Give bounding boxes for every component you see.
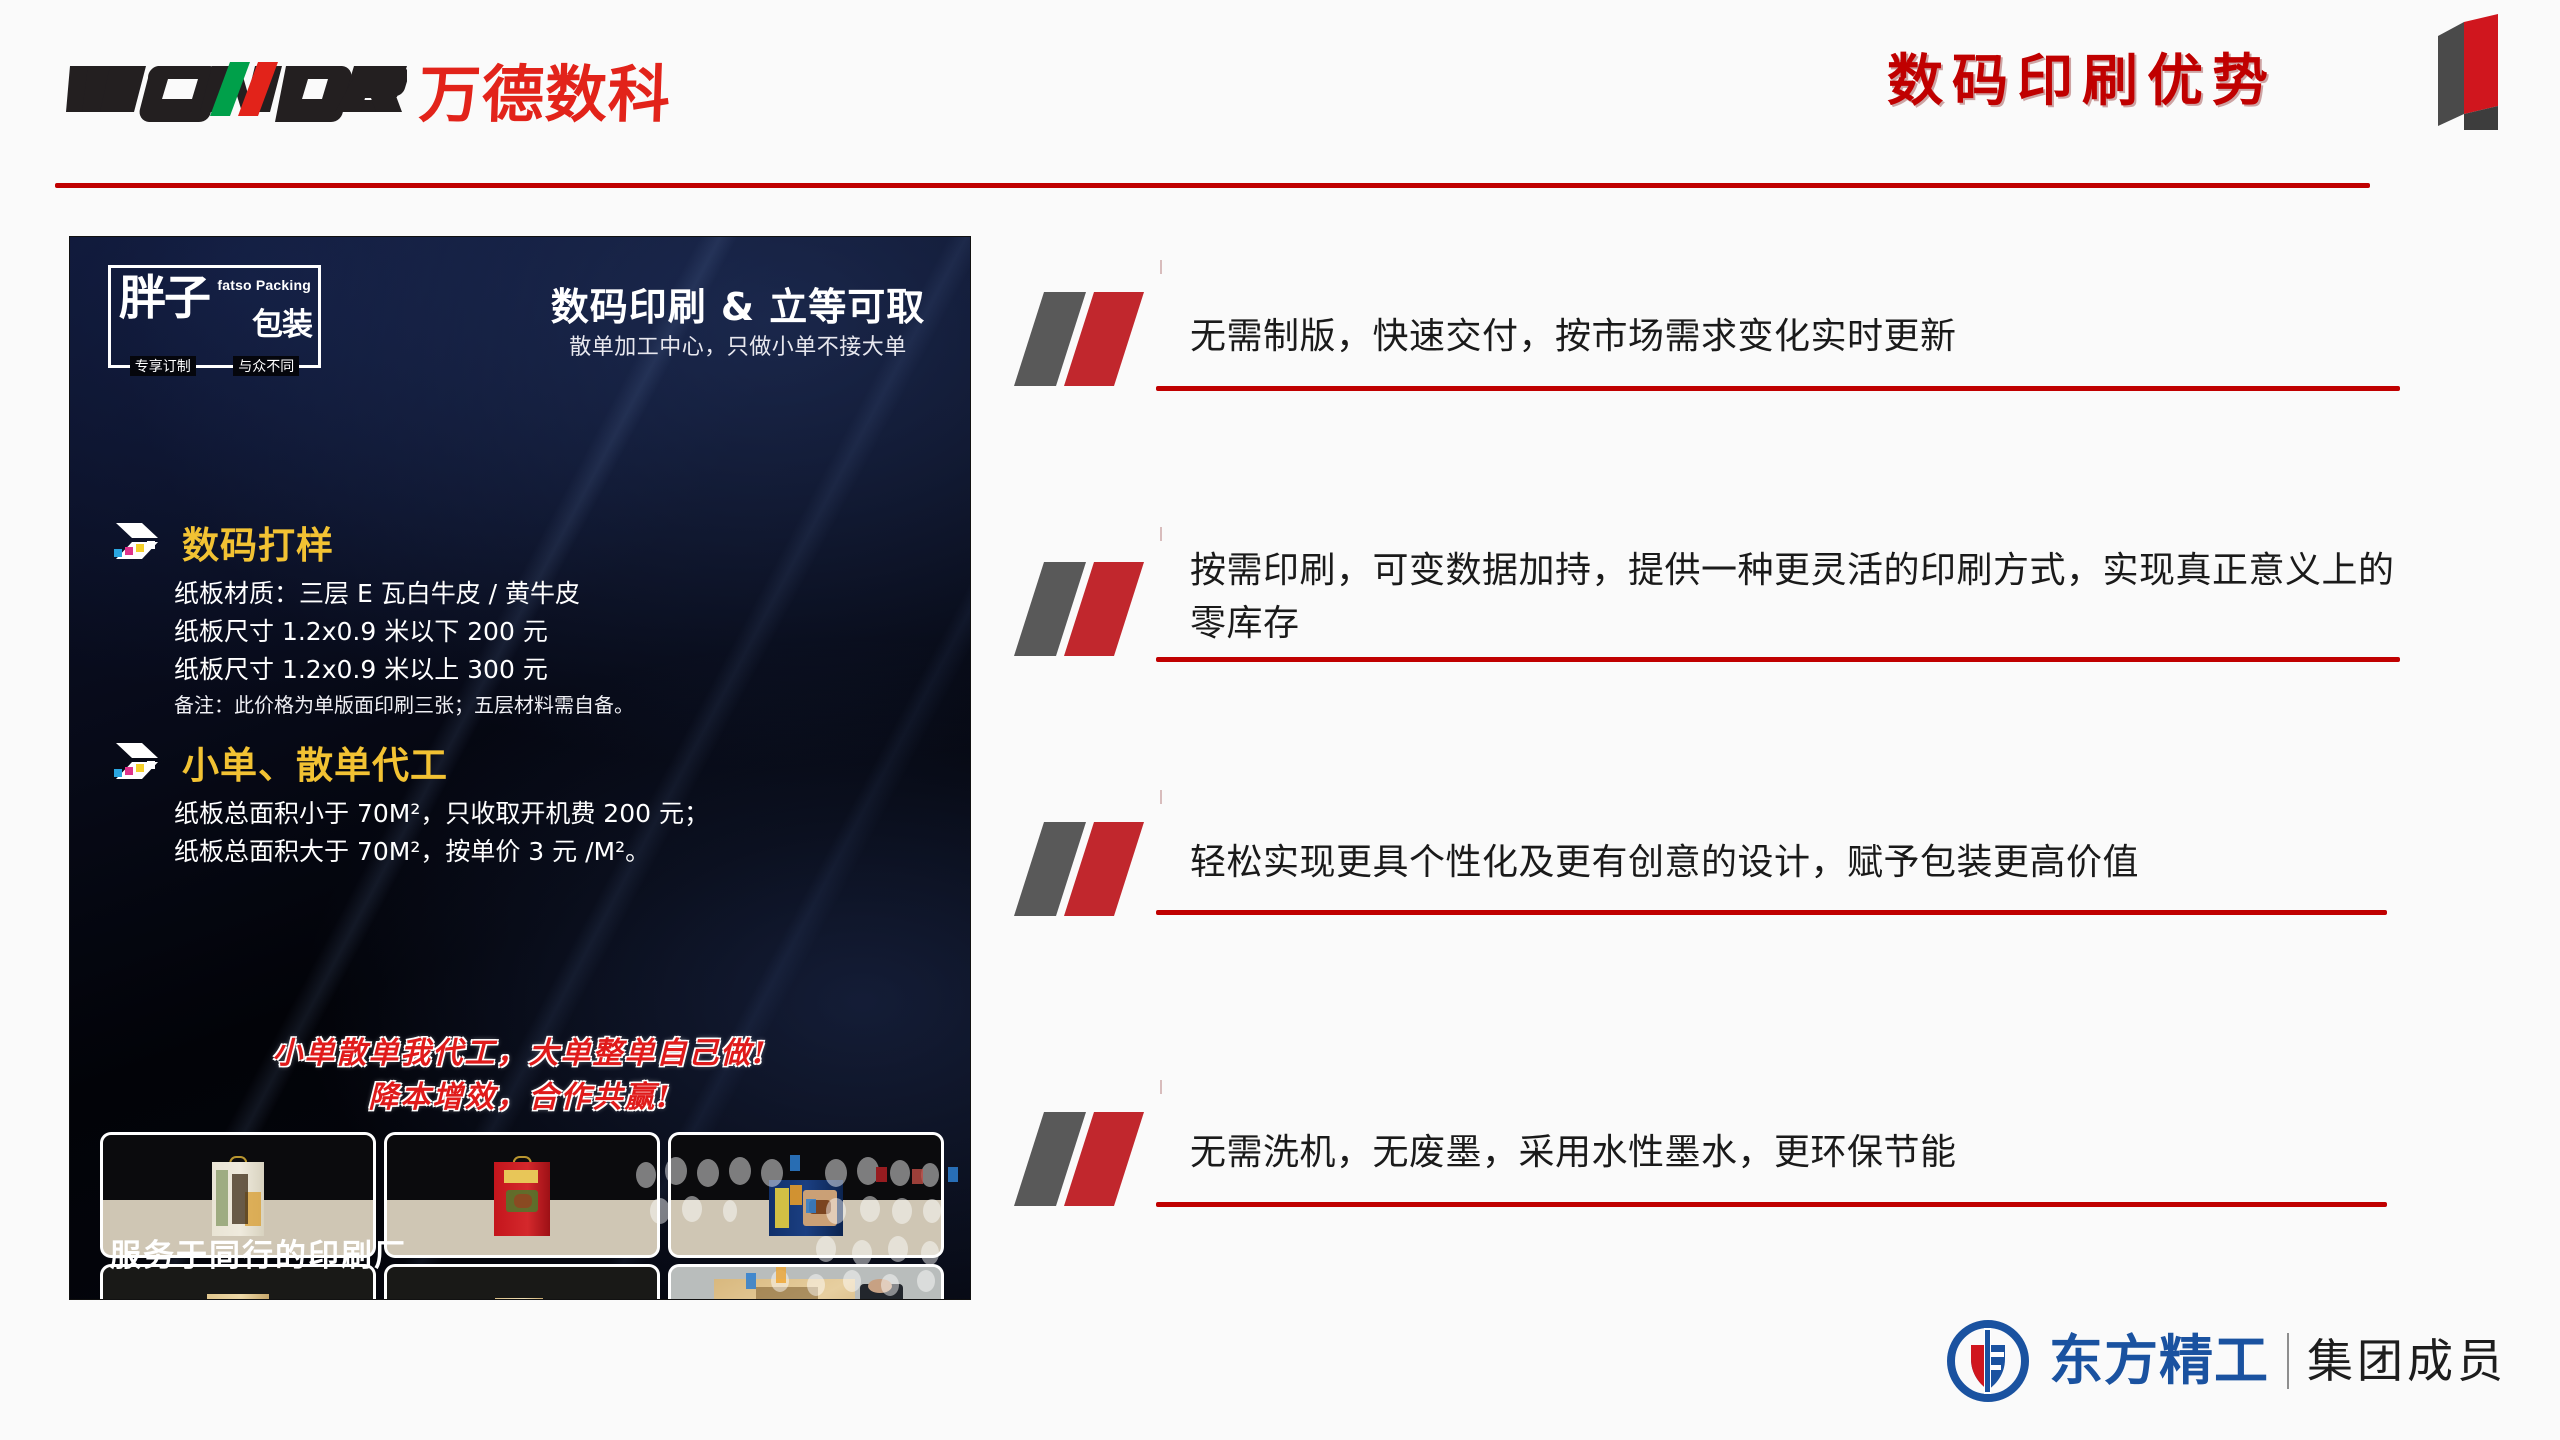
footer-divider	[2287, 1333, 2289, 1389]
wonder-wordmark-icon	[62, 52, 407, 126]
section-line: 纸板尺寸 1.2x0.9 米以上 300 元	[174, 651, 634, 689]
brand-logo: 万德数科	[62, 46, 671, 132]
fatso-logo-main: 胖子	[119, 275, 209, 322]
bullet-marker-icon	[1008, 1110, 1183, 1210]
bullet-marker-icon	[1008, 290, 1183, 390]
poster-section-digital-proofing: 数码打样 纸板材质：三层 E 瓦白牛皮 / 黄牛皮 纸板尺寸 1.2x0.9 米…	[112, 515, 634, 721]
section-note: 备注：此价格为单版面印刷三张；五层材料需自备。	[174, 689, 634, 721]
header-divider	[55, 183, 2370, 188]
chevron-arrow-icon	[112, 739, 170, 785]
bullet-tick-icon	[1160, 260, 1162, 274]
poster-subheadline: 散单加工中心，只做小单不接大单	[538, 329, 938, 361]
advantage-underline	[1156, 386, 2400, 391]
advantage-text: 轻松实现更具个性化及更有创意的设计，赋予包装更高价值	[1190, 836, 2400, 889]
book-mark-icon	[2434, 14, 2502, 130]
chevron-arrow-icon	[112, 519, 170, 565]
dongfang-circle-logo-icon	[1945, 1318, 2031, 1404]
product-photo-red-meat-gift-box	[387, 1135, 657, 1255]
advantage-underline	[1156, 910, 2387, 915]
fatso-tag-left: 专享订制	[130, 356, 196, 376]
advantage-text: 无需制版，快速交付，按市场需求变化实时更新	[1190, 310, 2400, 363]
fatso-tag-right: 与众不同	[233, 356, 299, 376]
fatso-packing-logo: 胖子 fatso Packing 包装 专享订制 与众不同	[108, 265, 321, 368]
product-photo-classic-kraft-boxes	[387, 1267, 657, 1299]
poster-headline: 数码印刷 & 立等可取	[538, 276, 938, 331]
advantage-underline	[1156, 657, 2400, 662]
poster-section-small-order-oem: 小单、散单代工 纸板总面积小于 70M²，只收取开机费 200 元； 纸板总面积…	[112, 735, 709, 871]
slogan-line-2: 降本增效，合作共赢!	[70, 1076, 970, 1120]
group-member-logo: 东方精工 集团成员	[1945, 1318, 2507, 1404]
poster-image: 胖子 fatso Packing 包装 专享订制 与众不同 数码印刷 & 立等可…	[70, 237, 970, 1299]
section-line: 纸板材质：三层 E 瓦白牛皮 / 黄牛皮	[174, 575, 634, 613]
advantage-underline	[1156, 1202, 2387, 1207]
section-line: 纸板总面积小于 70M²，只收取开机费 200 元；	[174, 795, 709, 833]
advantage-text: 按需印刷，可变数据加持，提供一种更灵活的印刷方式，实现真正意义上的零库存	[1190, 544, 2400, 650]
bullet-tick-icon	[1160, 527, 1162, 541]
section-title: 小单、散单代工	[182, 735, 448, 789]
fatso-logo-sub: 包装	[252, 299, 312, 344]
brand-cn-label: 万德数科	[418, 64, 672, 126]
section-title: 数码打样	[182, 515, 334, 569]
bullet-tick-icon	[1160, 1080, 1162, 1094]
bullet-marker-icon	[1008, 820, 1183, 920]
section-line: 纸板总面积大于 70M²，按单价 3 元 /M²。	[174, 833, 709, 871]
slogan-line-1: 小单散单我代工，大单整单自己做!	[272, 1036, 767, 1071]
poster-slogan: 小单散单我代工，大单整单自己做! 降本增效，合作共赢!	[70, 1032, 970, 1120]
halftone-dots-decoration	[630, 1149, 970, 1299]
bullet-tick-icon	[1160, 790, 1162, 804]
fatso-logo-english: fatso Packing	[217, 277, 311, 293]
bullet-marker-icon	[1008, 560, 1183, 660]
company-name: 东方精工	[2049, 1334, 2269, 1388]
section-line: 纸板尺寸 1.2x0.9 米以下 200 元	[174, 613, 634, 651]
advantage-text: 无需洗机，无废墨，采用水性墨水，更环保节能	[1190, 1126, 2400, 1179]
slide-root: 万德数科 数码印刷优势 胖子 fatso Packing 包装 专享订制 与众不…	[0, 0, 2560, 1440]
poster-footer-text: 服务于同行的印刷厂	[110, 1230, 407, 1275]
group-member-label: 集团成员	[2307, 1338, 2507, 1384]
page-title: 数码印刷优势	[1887, 36, 2277, 117]
